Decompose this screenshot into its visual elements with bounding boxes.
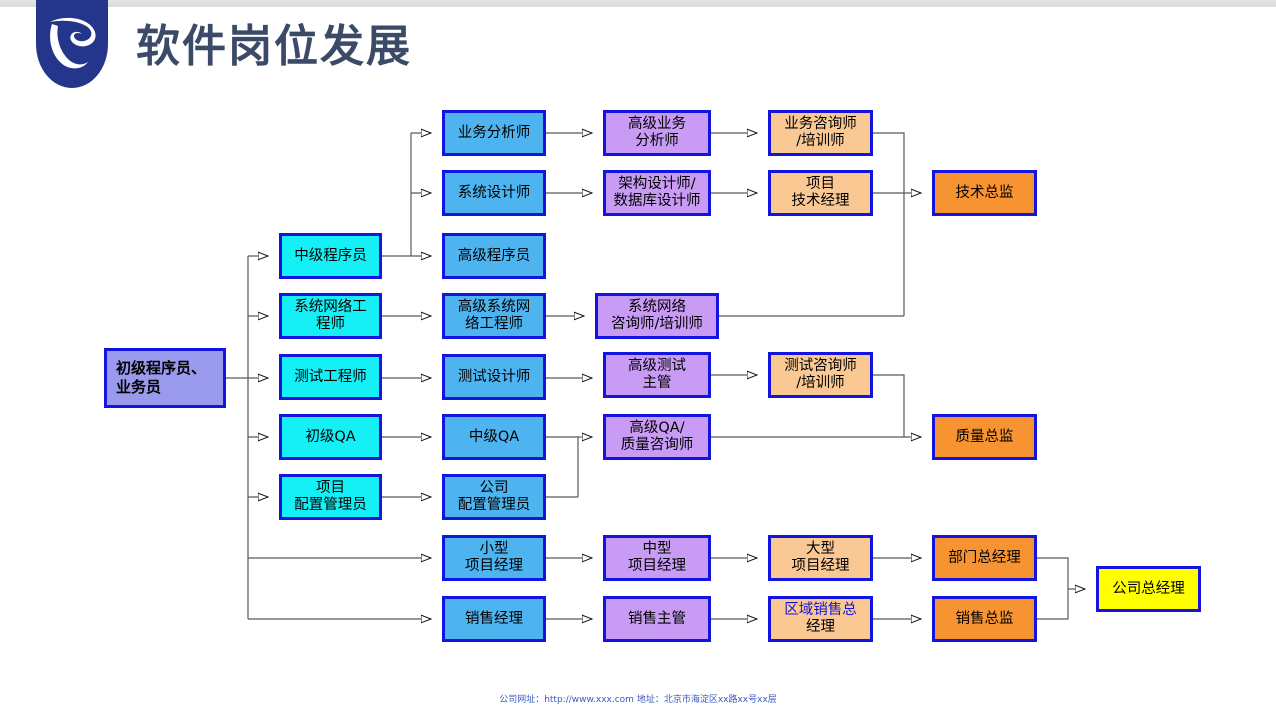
- node-archdb[interactable]: 架构设计师/ 数据库设计师: [603, 170, 711, 216]
- node-label: 部门总经理: [948, 550, 1021, 567]
- node-srtestlead[interactable]: 高级测试 主管: [603, 352, 711, 398]
- node-label: 高级业务 分析师: [628, 116, 686, 150]
- node-label: 大型 项目经理: [792, 541, 850, 575]
- node-label: 高级测试 主管: [628, 358, 686, 392]
- node-junior[interactable]: 初级程序员、 业务员: [104, 348, 226, 408]
- node-label: 架构设计师/ 数据库设计师: [614, 176, 701, 210]
- node-qualitydir[interactable]: 质量总监: [932, 414, 1037, 460]
- node-testdesign[interactable]: 测试设计师: [442, 354, 546, 400]
- node-label: 中级程序员: [294, 248, 367, 265]
- node-label: 项目 技术经理: [792, 176, 850, 210]
- node-label: 中型 项目经理: [628, 541, 686, 575]
- node-salesdir[interactable]: 销售总监: [932, 596, 1037, 642]
- node-salesmgr[interactable]: 销售经理: [442, 596, 546, 642]
- node-midpm[interactable]: 中型 项目经理: [603, 535, 711, 581]
- node-label: 高级QA/ 质量咨询师: [621, 420, 694, 454]
- node-label-line1: 区域销售总: [784, 602, 857, 618]
- node-label: 销售经理: [465, 611, 523, 628]
- node-label: 系统网络工 程师: [294, 299, 367, 333]
- node-sysnet[interactable]: 系统网络工 程师: [279, 293, 382, 339]
- node-netconsult[interactable]: 系统网络 咨询师/培训师: [595, 293, 719, 339]
- node-label: 中级QA: [469, 429, 519, 446]
- node-label: 项目 配置管理员: [294, 480, 367, 514]
- node-baconsult[interactable]: 业务咨询师 /培训师: [768, 110, 873, 156]
- node-label: 区域销售总经理: [784, 602, 857, 636]
- node-compcfg[interactable]: 公司 配置管理员: [442, 474, 546, 520]
- node-label: 公司 配置管理员: [458, 480, 531, 514]
- node-label: 销售主管: [628, 611, 686, 628]
- node-srsysnet[interactable]: 高级系统网 络工程师: [442, 293, 546, 339]
- node-bigpm[interactable]: 大型 项目经理: [768, 535, 873, 581]
- node-label: 技术总监: [956, 185, 1014, 202]
- node-label: 业务分析师: [458, 125, 531, 142]
- node-label: 销售总监: [956, 611, 1014, 628]
- node-midqa[interactable]: 中级QA: [442, 414, 546, 460]
- node-projtechmgr[interactable]: 项目 技术经理: [768, 170, 873, 216]
- node-ceo[interactable]: 公司总经理: [1096, 566, 1201, 612]
- node-label: 系统设计师: [458, 185, 531, 202]
- node-label: 小型 项目经理: [465, 541, 523, 575]
- node-label: 初级QA: [305, 429, 355, 446]
- node-techdir[interactable]: 技术总监: [932, 170, 1037, 216]
- node-label: 质量总监: [956, 429, 1014, 446]
- node-label: 高级程序员: [458, 248, 531, 265]
- node-label: 业务咨询师 /培训师: [784, 116, 857, 150]
- node-label: 初级程序员、 业务员: [116, 359, 206, 397]
- slide-page: 软件岗位发展: [0, 0, 1276, 703]
- node-label: 系统网络 咨询师/培训师: [611, 299, 703, 333]
- node-srqa[interactable]: 高级QA/ 质量咨询师: [603, 414, 711, 460]
- node-label: 公司总经理: [1112, 581, 1185, 598]
- node-seniorprog[interactable]: 高级程序员: [442, 233, 546, 279]
- node-projcfg[interactable]: 项目 配置管理员: [279, 474, 382, 520]
- node-regionsales[interactable]: 区域销售总经理: [768, 596, 873, 642]
- node-saleslead[interactable]: 销售主管: [603, 596, 711, 642]
- node-sysdesign[interactable]: 系统设计师: [442, 170, 546, 216]
- node-deptgm[interactable]: 部门总经理: [932, 535, 1037, 581]
- node-testconsult[interactable]: 测试咨询师 /培训师: [768, 352, 873, 398]
- node-label: 高级系统网 络工程师: [458, 299, 531, 333]
- node-label-line2: 经理: [806, 619, 835, 635]
- node-label: 测试咨询师 /培训师: [784, 358, 857, 392]
- footer-note: 公司网址：http://www.xxx.com 地址：北京市海淀区xx路xx号x…: [0, 692, 1276, 705]
- node-smallpm[interactable]: 小型 项目经理: [442, 535, 546, 581]
- node-srba[interactable]: 高级业务 分析师: [603, 110, 711, 156]
- node-testeng[interactable]: 测试工程师: [279, 354, 382, 400]
- node-juniorqa[interactable]: 初级QA: [279, 414, 382, 460]
- node-label: 测试工程师: [294, 369, 367, 386]
- node-label: 测试设计师: [458, 369, 531, 386]
- node-midprog[interactable]: 中级程序员: [279, 233, 382, 279]
- node-ba[interactable]: 业务分析师: [442, 110, 546, 156]
